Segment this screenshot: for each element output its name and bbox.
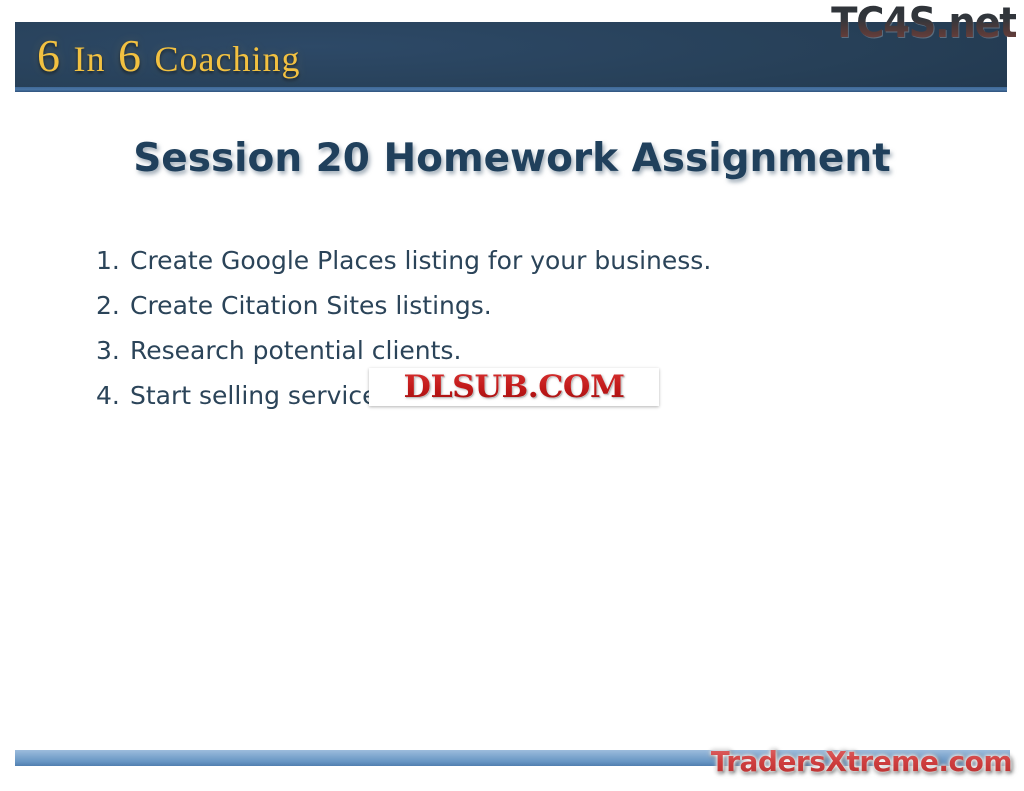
brand-text-part-3: 6	[118, 30, 142, 81]
list-item: 1.Create Google Places listing for your …	[96, 238, 711, 283]
slide-canvas: 6 In 6 Coaching TC4S.net Session 20 Home…	[0, 0, 1024, 791]
list-item-number: 3.	[96, 328, 130, 373]
list-item: 3.Research potential clients.	[96, 328, 711, 373]
tc4s-watermark: TC4S.net	[831, 0, 1016, 47]
list-item: 2.Create Citation Sites listings.	[96, 283, 711, 328]
list-item-text: Start selling services.	[130, 381, 398, 410]
list-item-number: 4.	[96, 373, 130, 418]
dlsub-watermark-text: DLSUB.COM	[404, 369, 625, 405]
brand-text-part-4: Coaching	[155, 39, 301, 79]
page-title: Session 20 Homework Assignment	[0, 136, 1024, 181]
brand-logo-text: 6 In 6 Coaching	[37, 33, 300, 79]
list-item-text: Research potential clients.	[130, 336, 461, 365]
list-item-number: 2.	[96, 283, 130, 328]
brand-text-part-1: 6	[37, 30, 61, 81]
dlsub-watermark: DLSUB.COM	[369, 368, 659, 406]
tradersxtreme-watermark: TradersXtreme.com	[711, 745, 1012, 778]
brand-text-part-2: In	[74, 39, 106, 79]
list-item-text: Create Google Places listing for your bu…	[130, 246, 711, 275]
list-item-text: Create Citation Sites listings.	[130, 291, 492, 320]
list-item-number: 1.	[96, 238, 130, 283]
